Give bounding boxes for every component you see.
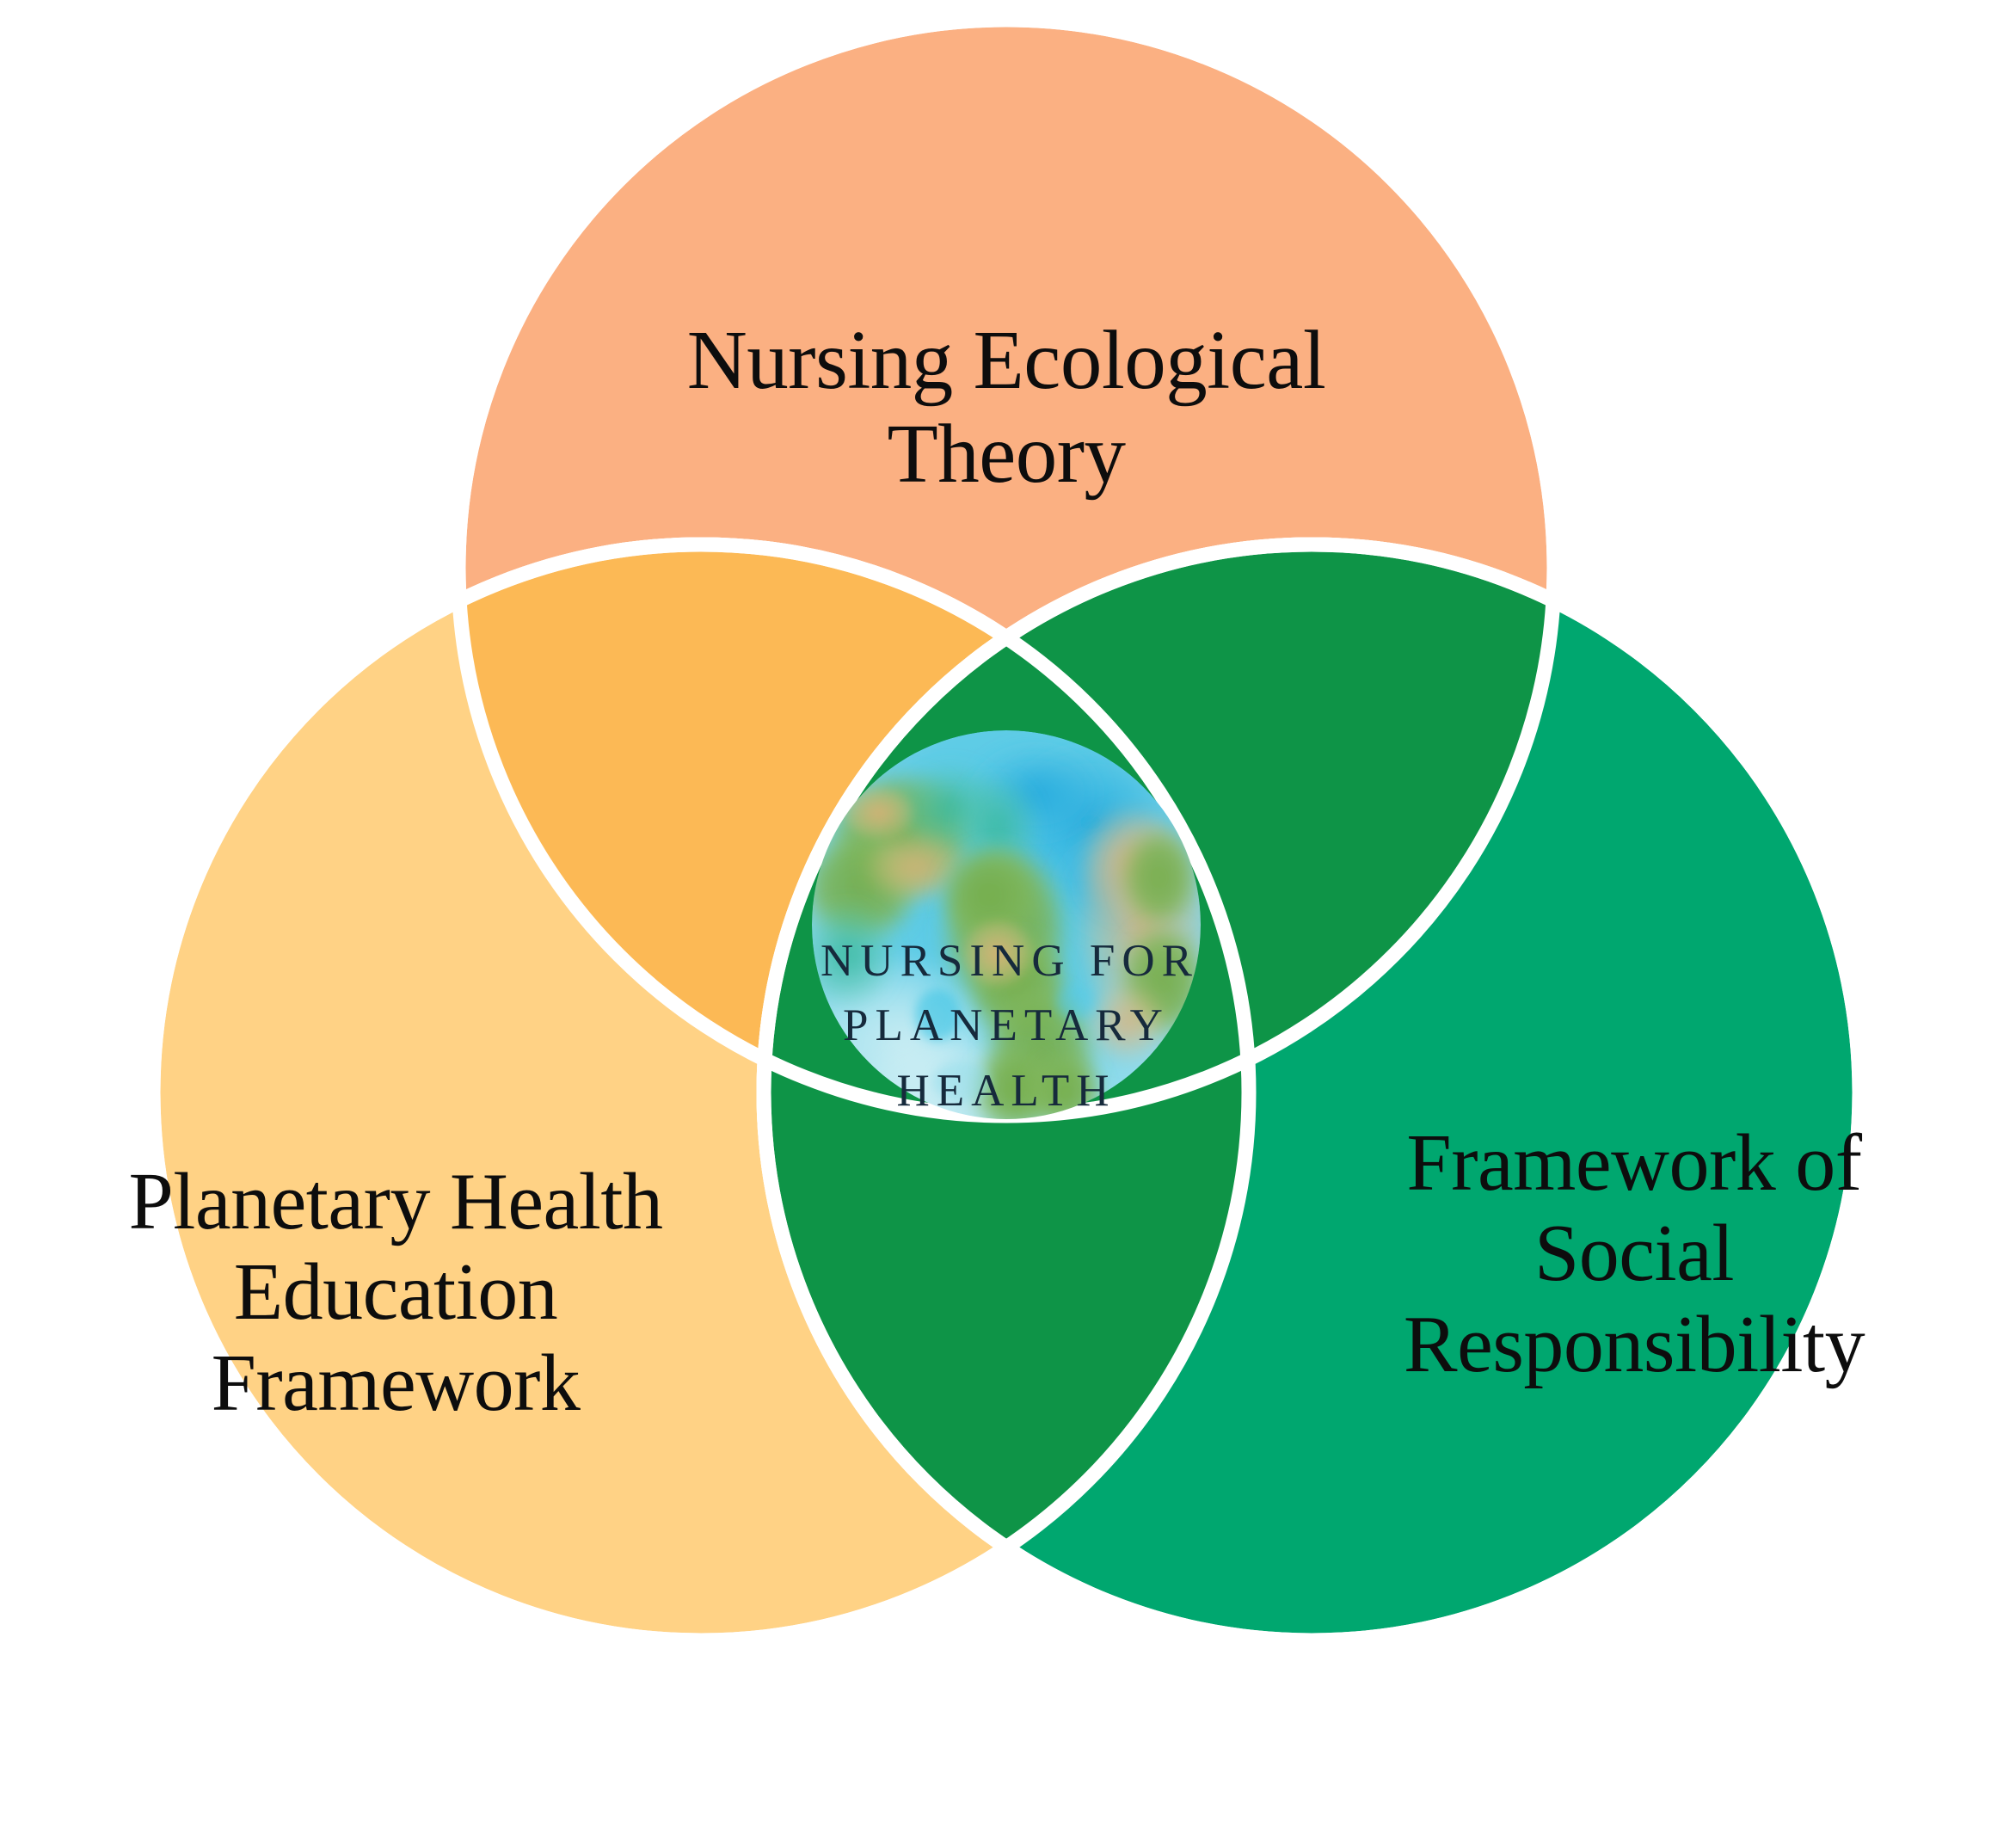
venn-svg	[0, 0, 2016, 1840]
venn-diagram: Nursing Ecological Theory Planetary Heal…	[0, 0, 2016, 1840]
